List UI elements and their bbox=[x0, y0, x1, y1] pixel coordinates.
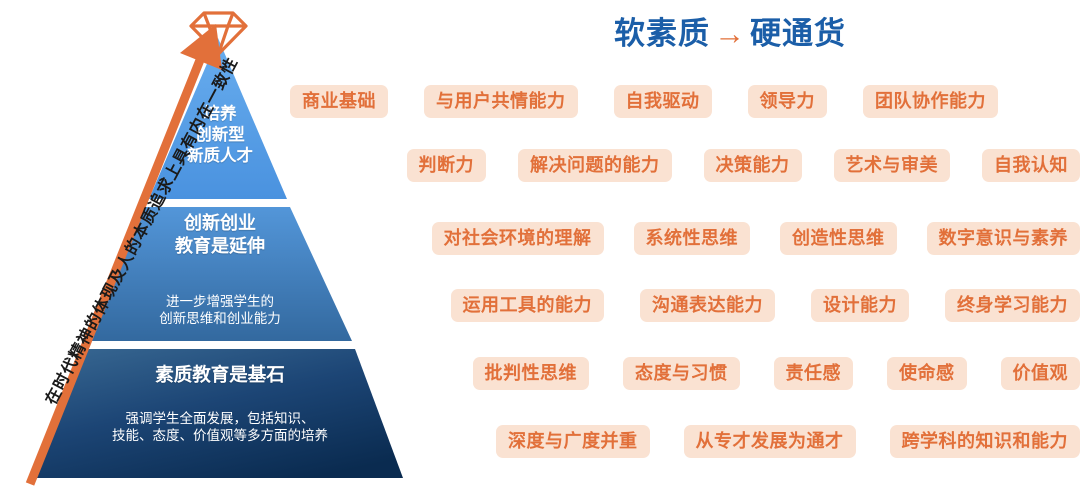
skill-tag[interactable]: 自我认知 bbox=[982, 149, 1080, 182]
skill-tag[interactable]: 价值观 bbox=[1001, 357, 1080, 390]
page-title: 软素质→硬通货 bbox=[520, 8, 940, 53]
skill-tag[interactable]: 从专才发展为通才 bbox=[684, 425, 856, 458]
skill-tag[interactable]: 自我驱动 bbox=[614, 85, 712, 118]
arrow-right-icon: → bbox=[710, 16, 750, 51]
skill-tag[interactable]: 系统性思维 bbox=[634, 222, 751, 255]
skill-tag[interactable]: 使命感 bbox=[887, 357, 967, 390]
tag-row-4: 运用工具的能力沟通表达能力设计能力终身学习能力 bbox=[290, 286, 1080, 324]
title-right-text: 硬通货 bbox=[750, 16, 846, 51]
skill-tag[interactable]: 创造性思维 bbox=[780, 222, 897, 255]
skill-tag[interactable]: 跨学科的知识和能力 bbox=[890, 425, 1080, 458]
tag-row-2: 判断力解决问题的能力决策能力艺术与审美自我认知 bbox=[290, 146, 1080, 184]
skill-tag[interactable]: 运用工具的能力 bbox=[451, 289, 605, 322]
skill-tag[interactable]: 领导力 bbox=[748, 85, 828, 118]
tag-row-6: 深度与广度并重从专才发展为通才跨学科的知识和能力 bbox=[290, 422, 1080, 460]
tag-row-1: 商业基础与用户共情能力自我驱动领导力团队协作能力 bbox=[290, 82, 1080, 120]
skill-tag[interactable]: 商业基础 bbox=[290, 85, 388, 118]
skill-tag[interactable]: 解决问题的能力 bbox=[518, 149, 672, 182]
skill-tag[interactable]: 终身学习能力 bbox=[945, 289, 1080, 322]
skill-tag[interactable]: 数字意识与素养 bbox=[927, 222, 1080, 255]
skill-tag[interactable]: 决策能力 bbox=[704, 149, 802, 182]
skill-tag[interactable]: 艺术与审美 bbox=[834, 149, 951, 182]
skill-tag[interactable]: 沟通表达能力 bbox=[640, 289, 775, 322]
skill-tag[interactable]: 责任感 bbox=[774, 357, 854, 390]
skill-tag[interactable]: 与用户共情能力 bbox=[424, 85, 578, 118]
infographic-canvas: 软素质→硬通货 bbox=[0, 0, 1080, 497]
skill-tag-area: 商业基础与用户共情能力自我驱动领导力团队协作能力 判断力解决问题的能力决策能力艺… bbox=[290, 82, 1080, 482]
skill-tag[interactable]: 设计能力 bbox=[811, 289, 909, 322]
skill-tag[interactable]: 对社会环境的理解 bbox=[432, 222, 604, 255]
skill-tag[interactable]: 团队协作能力 bbox=[863, 85, 998, 118]
tag-row-5: 批判性思维态度与习惯责任感使命感价值观 bbox=[290, 354, 1080, 392]
title-left-text: 软素质 bbox=[614, 16, 710, 51]
tag-row-3: 对社会环境的理解系统性思维创造性思维数字意识与素养 bbox=[290, 219, 1080, 257]
skill-tag[interactable]: 态度与习惯 bbox=[623, 357, 740, 390]
skill-tag[interactable]: 深度与广度并重 bbox=[496, 425, 650, 458]
skill-tag[interactable]: 批判性思维 bbox=[473, 357, 590, 390]
skill-tag[interactable]: 判断力 bbox=[407, 149, 487, 182]
